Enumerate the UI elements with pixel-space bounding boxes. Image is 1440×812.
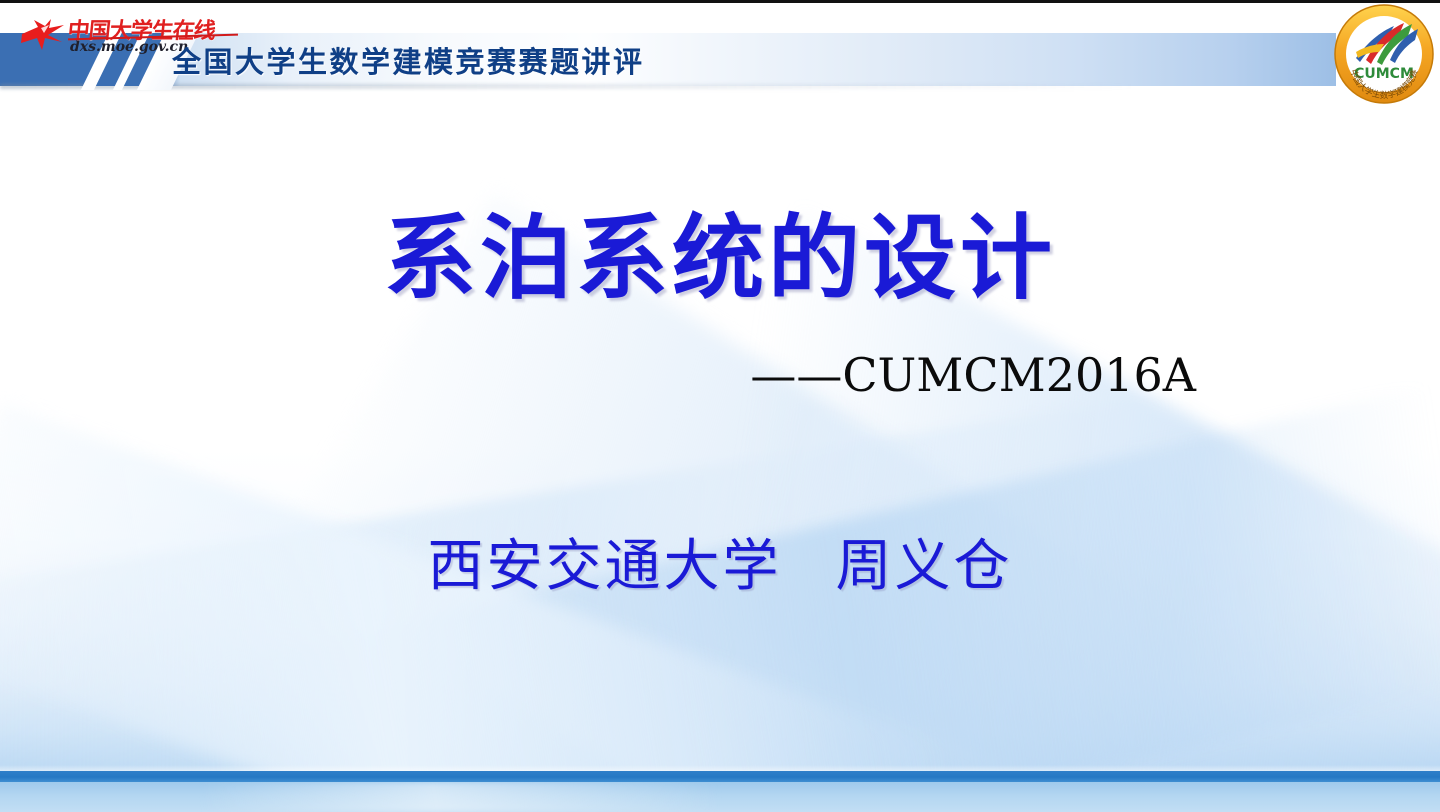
top-hairline-rule <box>0 0 1440 3</box>
slide-header: 中国大学生在线 dxs.moe.gov.cn 全国大学生数学建模竞赛赛题讲评 <box>0 0 1440 112</box>
presenter-name: 周义仓 <box>836 534 1013 599</box>
presenter-line: 西安交通大学周义仓 <box>0 521 1440 602</box>
slide-title: 系泊系统的设计 <box>0 208 1440 309</box>
slide-background <box>0 0 1440 812</box>
cumcm-circular-logo: CUMCM 中国大学生数学建模竞赛 <box>1332 2 1436 106</box>
bottom-accent-band <box>0 771 1440 782</box>
presentation-slide: 中国大学生在线 dxs.moe.gov.cn 全国大学生数学建模竞赛赛题讲评 <box>0 0 1440 812</box>
banner-title: 全国大学生数学建模竞赛赛题讲评 <box>172 33 645 86</box>
bottom-wash-streak <box>202 782 720 812</box>
cumcm-acronym: CUMCM <box>1354 66 1414 82</box>
presenter-affiliation: 西安交通大学 <box>428 534 782 599</box>
red-star-icon <box>18 18 68 52</box>
dxs-logo-url: dxs.moe.gov.cn <box>70 39 188 55</box>
slide-subtitle: ——CUMCM2016A <box>0 348 1196 402</box>
